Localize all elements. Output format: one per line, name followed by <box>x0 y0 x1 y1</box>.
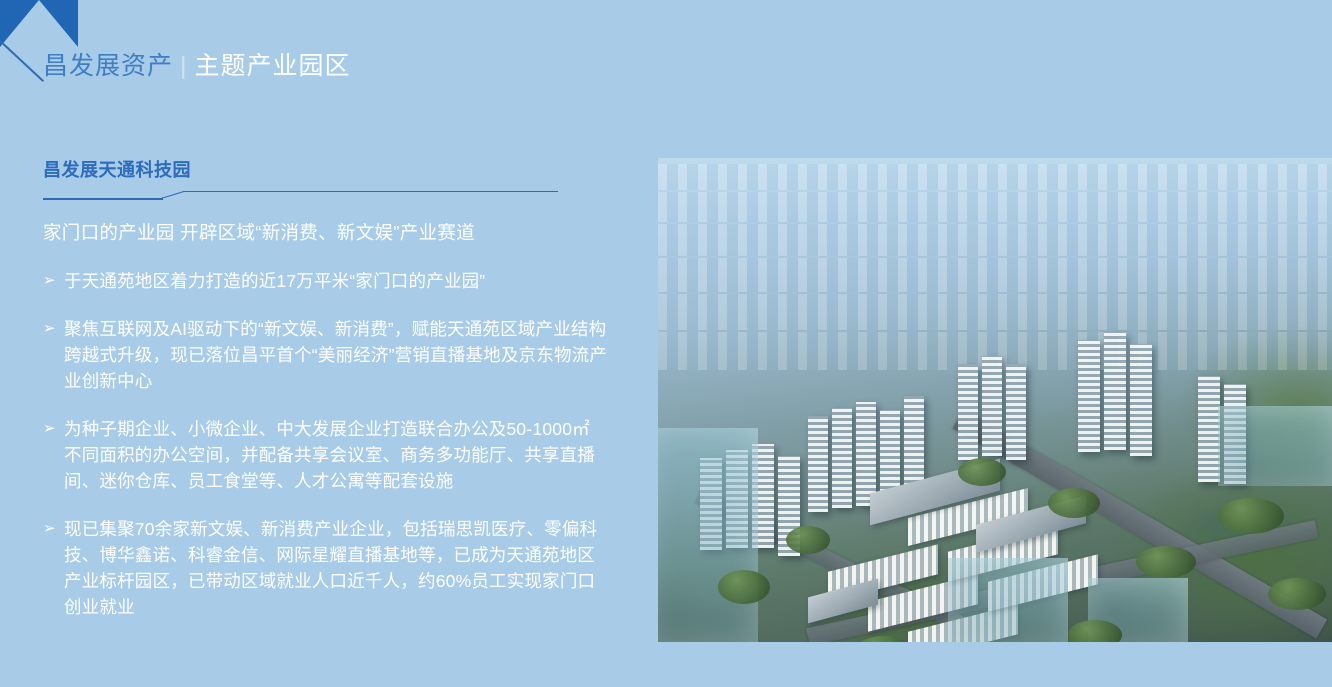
list-item-text: 于天通苑地区着力打造的近17万平米“家门口的产业园” <box>64 268 609 294</box>
bullet-arrow-icon: ➢ <box>43 268 56 294</box>
divider-segment-slant <box>161 191 184 199</box>
list-item-text: 聚焦互联网及AI驱动下的“新文娱、新消费”，赋能天通苑区域产业结构跨越式升级，现… <box>64 316 609 394</box>
header-brand: 昌发展资产 <box>43 52 173 80</box>
list-item: ➢ 为种子期企业、小微企业、中大发展企业打造联合办公及50-1000㎡ 不同面积… <box>43 416 609 494</box>
list-item: ➢ 于天通苑地区着力打造的近17万平米“家门口的产业园” <box>43 268 609 294</box>
corner-triangle-decoration <box>0 0 78 47</box>
heading-divider <box>43 190 558 206</box>
bullet-list: ➢ 于天通苑地区着力打造的近17万平米“家门口的产业园” ➢ 聚焦互联网及AI驱… <box>43 268 613 620</box>
content-left-column: 昌发展天通科技园 家门口的产业园 开辟区域“新消费、新文娱”产业赛道 ➢ 于天通… <box>43 158 613 620</box>
bullet-arrow-icon: ➢ <box>43 416 56 442</box>
header-title: 昌发展资产|主题产业园区 <box>43 50 351 82</box>
intro-paragraph: 家门口的产业园 开辟区域“新消费、新文娱”产业赛道 <box>43 216 603 249</box>
aerial-rendering-image <box>658 158 1332 642</box>
header-subject: 主题产业园区 <box>195 52 351 80</box>
image-vignette <box>658 158 1332 642</box>
header-separator: | <box>180 52 188 80</box>
divider-segment-left <box>43 198 163 200</box>
list-item: ➢ 聚焦互联网及AI驱动下的“新文娱、新消费”，赋能天通苑区域产业结构跨越式升级… <box>43 316 609 394</box>
slide: 昌发展资产|主题产业园区 昌发展天通科技园 家门口的产业园 开辟区域“新消费、新… <box>0 0 1332 687</box>
list-item-text: 现已集聚70余家新文娱、新消费产业企业，包括瑞思凯医疗、零偏科技、博华鑫诺、科睿… <box>64 516 609 620</box>
slide-header: 昌发展资产|主题产业园区 <box>0 0 1332 110</box>
bullet-arrow-icon: ➢ <box>43 316 56 342</box>
section-heading: 昌发展天通科技园 <box>43 158 613 182</box>
aerial-rendering-canvas <box>658 158 1332 642</box>
list-item: ➢ 现已集聚70余家新文娱、新消费产业企业，包括瑞思凯医疗、零偏科技、博华鑫诺、… <box>43 516 609 620</box>
list-item-text: 为种子期企业、小微企业、中大发展企业打造联合办公及50-1000㎡ 不同面积的办… <box>64 416 609 494</box>
bullet-arrow-icon: ➢ <box>43 516 56 542</box>
divider-segment-right <box>183 191 558 192</box>
